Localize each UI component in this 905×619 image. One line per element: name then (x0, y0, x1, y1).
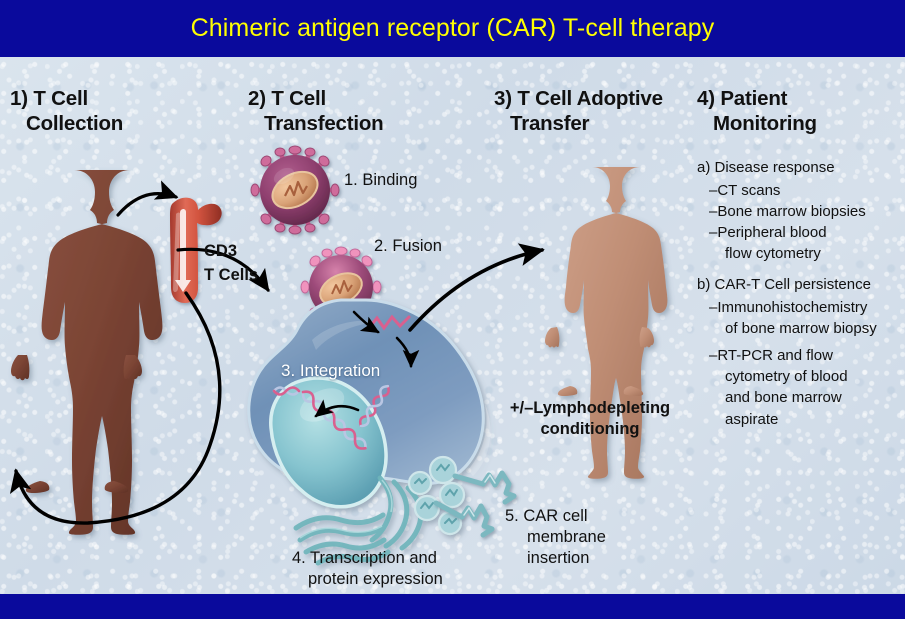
step-5-line2: membrane (505, 527, 606, 548)
lymphodepleting-line2: conditioning (500, 419, 680, 440)
section-1-line1: 1) T Cell (10, 87, 88, 110)
arrow-collection (118, 194, 176, 215)
cd3-t-cells-label: CD3 T Cells (204, 240, 258, 288)
monitoring-b-heading: b) CAR-T Cell persistence (697, 275, 902, 294)
section-heading-3: 3) T Cell Adoptive Transfer (494, 86, 663, 136)
section-heading-1: 1) T Cell Collection (10, 86, 123, 136)
section-2-line2: Transfection (248, 111, 384, 136)
step-1-binding-label: 1. Binding (344, 170, 417, 191)
monitoring-a-item-3: –Peripheral blood (697, 223, 902, 242)
patient-monitoring-panel: a) Disease response –CT scans –Bone marr… (697, 158, 902, 441)
t-cell-body (249, 300, 491, 563)
step-5-line1: 5. CAR cell (505, 506, 606, 527)
step-4-transcription-label: 4. Transcription and protein expression (286, 548, 443, 591)
step-2-fusion-label: 2. Fusion (374, 236, 442, 257)
monitoring-b-item-2-cont-1: cytometry of blood (697, 367, 902, 386)
section-3-line2: Transfer (494, 111, 663, 136)
cd3-label-line2: T Cells (204, 264, 258, 288)
title-bar: Chimeric antigen receptor (CAR) T-cell t… (0, 0, 905, 57)
section-heading-2: 2) T Cell Transfection (248, 86, 384, 136)
monitoring-b-item-2-cont-2: and bone marrow (697, 388, 902, 407)
lymphodepleting-conditioning-label: +/–Lymphodepleting conditioning (500, 398, 680, 441)
section-3-line1: 3) T Cell Adoptive (494, 87, 663, 110)
monitoring-a-heading: a) Disease response (697, 158, 902, 177)
step-4-line2: protein expression (286, 569, 443, 590)
monitoring-b-item-1: –Immunohistochemistry (697, 298, 902, 317)
section-1-line2: Collection (10, 111, 123, 136)
section-heading-4: 4) Patient Monitoring (697, 86, 817, 136)
diagram-canvas: Chimeric antigen receptor (CAR) T-cell t… (0, 0, 905, 619)
page-title: Chimeric antigen receptor (CAR) T-cell t… (191, 14, 715, 43)
cd3-label-line1: CD3 (204, 240, 258, 264)
lymphodepleting-line1: +/–Lymphodepleting (500, 398, 680, 419)
step-4-line1: 4. Transcription and (286, 548, 443, 569)
monitoring-b-item-2: –RT-PCR and flow (697, 346, 902, 365)
monitoring-group-b: b) CAR-T Cell persistence –Immunohistoch… (697, 275, 902, 428)
virus-particle-binding (251, 146, 339, 234)
step-3-integration-label: 3. Integration (281, 360, 380, 381)
section-4-line2: Monitoring (697, 111, 817, 136)
footer-bar (0, 594, 905, 619)
section-4-line1: 4) Patient (697, 87, 787, 110)
section-2-line1: 2) T Cell (248, 87, 326, 110)
step-5-car-insertion-label: 5. CAR cell membrane insertion (505, 506, 606, 569)
step-5-line3: insertion (505, 548, 606, 569)
monitoring-group-a: a) Disease response –CT scans –Bone marr… (697, 158, 902, 263)
monitoring-a-item-3-cont: flow cytometry (697, 244, 902, 263)
donor-patient-figure (11, 170, 162, 535)
monitoring-a-item-2: –Bone marrow biopsies (697, 202, 902, 221)
monitoring-a-item-1: –CT scans (697, 181, 902, 200)
monitoring-b-item-2-cont-3: aspirate (697, 410, 902, 429)
monitoring-b-item-1-cont: of bone marrow biopsy (697, 319, 902, 338)
arrow-adoptive-transfer (410, 250, 542, 330)
